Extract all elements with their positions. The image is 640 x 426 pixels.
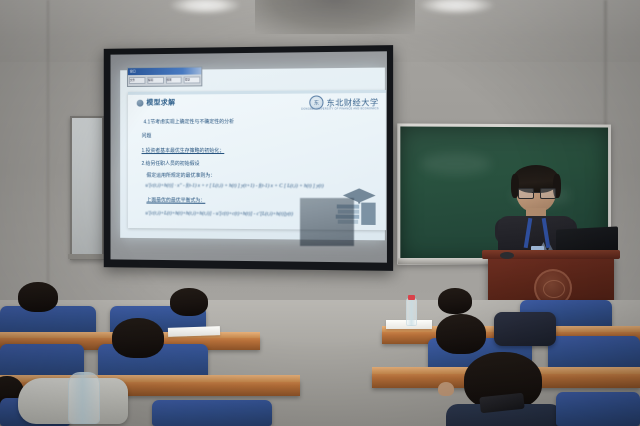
water-bottle <box>406 298 417 326</box>
slide-title-group: 模型求解 <box>137 98 176 108</box>
app-menu-item[interactable]: 帮助 <box>184 76 200 83</box>
lecture-hall-photo: 窗口 文件 编辑 视图 帮助 模型求解 东 <box>0 0 640 426</box>
app-menu-item[interactable]: 编辑 <box>147 77 163 84</box>
slide-line: 上面最优的最优平衡式为： <box>146 197 205 204</box>
hand <box>438 382 454 396</box>
audience-member <box>438 288 474 316</box>
slide-line: 1.投资者基本最优生存策略的初始化； <box>142 147 225 154</box>
mouse <box>500 252 514 259</box>
seat <box>556 392 640 426</box>
glasses-lens <box>518 188 534 199</box>
slide-line: 假定运用所规定的最优准则为： <box>146 172 215 179</box>
backpack <box>494 312 556 346</box>
bottle-cap <box>408 295 415 300</box>
panel-sill <box>68 254 104 259</box>
audience-member <box>436 314 488 356</box>
app-window-titlebar: 窗口 <box>128 67 201 75</box>
seal-inner-ring <box>543 280 565 298</box>
slide-line: 问题 <box>142 132 152 139</box>
university-subtitle: DONGBEI UNIVERSITY OF FINANCE AND ECONOM… <box>301 107 378 110</box>
slide-equation: u'[c(t,i)+h(t)] · x'' - f(t-1) x + r [ L… <box>145 183 323 190</box>
chalk-smudge <box>421 153 491 175</box>
lanyard-strap <box>524 218 533 248</box>
app-menu-item[interactable]: 文件 <box>129 77 145 84</box>
audience-head <box>18 282 58 312</box>
paper-sheet <box>168 326 220 337</box>
slide-accent-bar <box>128 90 386 95</box>
slide-title: 模型求解 <box>146 98 175 108</box>
audience-member <box>464 352 544 426</box>
audience-member <box>18 282 62 316</box>
glasses-icon <box>518 188 554 197</box>
audience-head <box>436 314 486 354</box>
wall-seam <box>47 0 49 300</box>
seat <box>152 400 272 426</box>
app-menu-row: 文件 编辑 视图 帮助 <box>129 76 200 84</box>
slide-line: 2.给另任职人员的初始假设 <box>142 160 200 167</box>
audience-member <box>112 318 166 362</box>
slide-line: 4.1节考虑实现上确定性与不确定性的分析 <box>143 118 234 125</box>
audience-member <box>170 288 210 318</box>
audience-head <box>438 288 472 314</box>
app-menu-item[interactable]: 视图 <box>165 77 181 84</box>
glasses-lens <box>540 188 556 199</box>
lanyard-strap <box>542 218 551 248</box>
projected-app-window[interactable]: 窗口 文件 编辑 视图 帮助 <box>127 66 202 87</box>
audience-head <box>112 318 164 358</box>
title-bullet-icon <box>137 99 144 106</box>
slide-equation: u'[c(t,i)+L(t)+h(t)+h(t,i)+h(t,i)] - u'[… <box>145 210 293 217</box>
ceiling-shadow <box>255 0 415 34</box>
foreground-object-silhouette <box>300 198 354 246</box>
wall-whiteboard-panel <box>70 116 104 260</box>
seal-glyph: 东 <box>314 99 319 106</box>
water-bottle <box>68 372 100 424</box>
audience-head <box>170 288 208 316</box>
lanyard <box>524 218 550 252</box>
glasses-bridge <box>532 192 540 193</box>
app-window-title: 窗口 <box>128 67 201 75</box>
